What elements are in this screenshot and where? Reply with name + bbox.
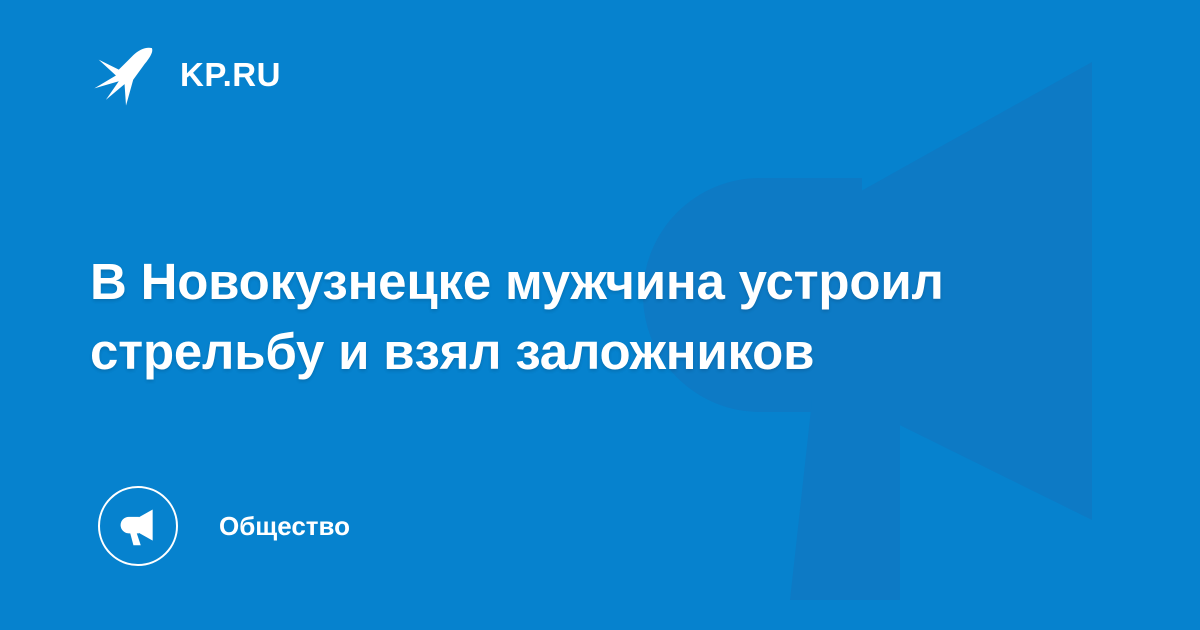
page-title: В Новокузнецке мужчина устроил стрельбу … <box>90 247 1100 387</box>
swallow-bird-icon <box>90 38 162 110</box>
headline-line-1: В Новокузнецке мужчина устроил <box>90 247 1100 317</box>
category-icon-circle <box>98 486 178 566</box>
category-badge[interactable]: Общество <box>98 486 350 566</box>
megaphone-icon <box>116 504 160 548</box>
brand-name: KP.RU <box>180 58 281 91</box>
brand-logo[interactable]: KP.RU <box>90 34 281 114</box>
headline-line-2: стрельбу и взял заложников <box>90 317 1100 387</box>
category-label: Общество <box>219 513 350 539</box>
share-card: KP.RU В Новокузнецке мужчина устроил стр… <box>0 0 1200 630</box>
